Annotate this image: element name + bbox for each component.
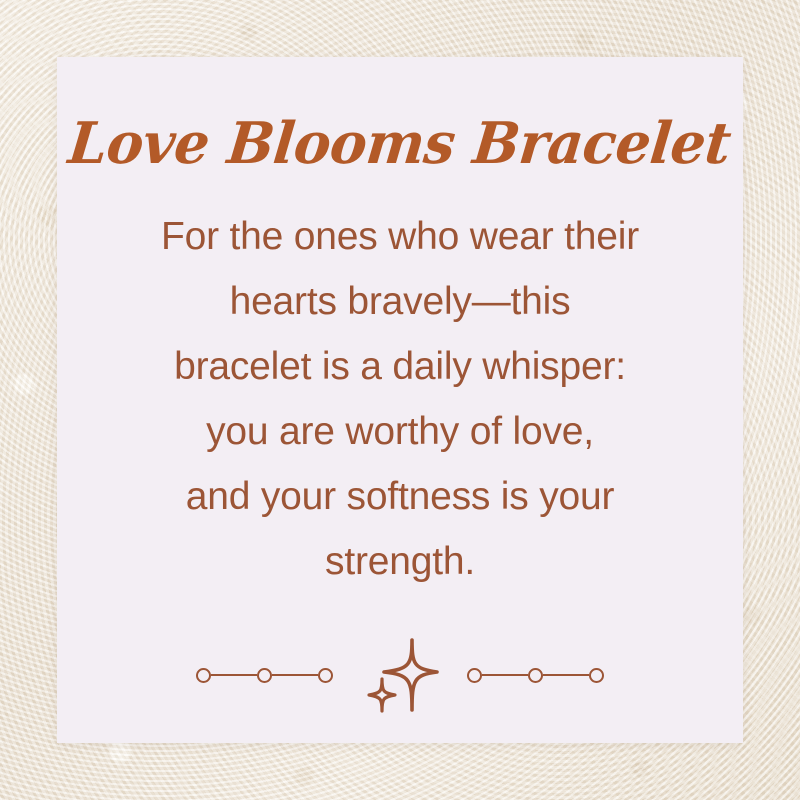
ornamental-divider (196, 632, 604, 718)
message-line: bracelet is a daily whisper: (100, 334, 700, 399)
message-line: hearts bravely—this (100, 269, 700, 334)
divider-dot-icon (467, 668, 482, 683)
divider-connector-line (543, 674, 589, 676)
divider-left-dots (196, 668, 333, 683)
message-line: you are worthy of love, (100, 399, 700, 464)
divider-dot-icon (528, 668, 543, 683)
divider-dot-icon (257, 668, 272, 683)
divider-right-dots (467, 668, 604, 683)
divider-connector-line (482, 674, 528, 676)
message-line: and your softness is your (100, 464, 700, 529)
message-line: For the ones who wear their (100, 204, 700, 269)
divider-dot-icon (196, 668, 211, 683)
divider-connector-line (211, 674, 257, 676)
message-line: strength. (100, 529, 700, 594)
divider-connector-line (272, 674, 318, 676)
product-message-card: Love Blooms Bracelet For the ones who we… (57, 57, 743, 743)
card-title: Love Blooms Bracelet (66, 114, 733, 171)
sparkle-icon (357, 632, 443, 718)
divider-dot-icon (318, 668, 333, 683)
divider-dot-icon (589, 668, 604, 683)
card-message: For the ones who wear their hearts brave… (100, 204, 700, 594)
